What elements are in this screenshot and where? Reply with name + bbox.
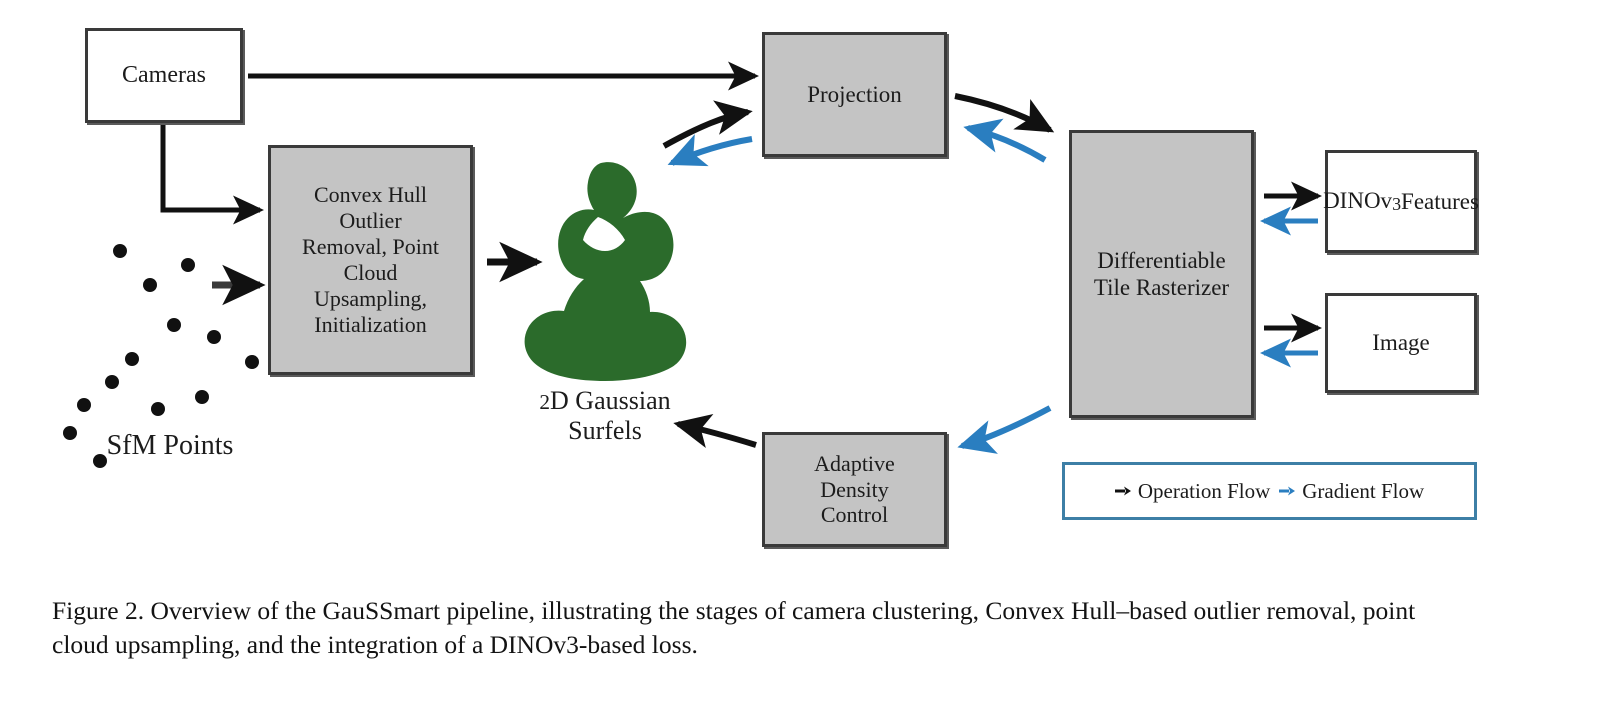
- node-cameras[interactable]: Cameras: [85, 28, 243, 123]
- node-adaptive-density-control[interactable]: Adaptive Density Control: [762, 432, 947, 547]
- sfm-points-label: SfM Points: [50, 430, 290, 462]
- node-adc-line-1: Adaptive: [814, 451, 895, 477]
- legend-label-gradient-flow: Gradient Flow: [1302, 479, 1424, 504]
- node-differentiable-tile-rasterizer[interactable]: Differentiable Tile Rasterizer: [1069, 130, 1254, 418]
- sfm-point: [105, 375, 119, 389]
- figure-caption: Figure 2. Overview of the GauSSmart pipe…: [52, 594, 1552, 662]
- gaussian-surfels-label: 2D Gaussian Surfels: [480, 386, 730, 446]
- node-cameras-label: Cameras: [122, 61, 206, 89]
- caption-line-1: Figure 2. Overview of the GauSSmart pipe…: [52, 594, 1552, 628]
- node-convex-hull-line-1: Convex Hull: [302, 182, 439, 208]
- node-dinov3-line-1: DINOv3: [1323, 187, 1401, 215]
- legend-entry-operation-flow: Operation Flow: [1115, 479, 1270, 504]
- sfm-point: [125, 352, 139, 366]
- node-projection[interactable]: Projection: [762, 32, 947, 157]
- node-rasterizer-line-1: Differentiable: [1094, 247, 1229, 274]
- flow-legend: Operation Flow Gradient Flow: [1062, 462, 1477, 520]
- surfels-dimension-number: 2: [539, 390, 550, 414]
- node-image[interactable]: Image: [1325, 293, 1477, 393]
- gaussian-surfels-bunny-icon: [505, 155, 695, 385]
- legend-label-operation-flow: Operation Flow: [1138, 479, 1270, 504]
- node-rasterizer-line-2: Tile Rasterizer: [1094, 274, 1229, 301]
- node-convex-hull-line-2: Outlier: [302, 208, 439, 234]
- bunny-svg: [505, 155, 695, 385]
- sfm-point: [77, 398, 91, 412]
- node-adc-label-group: Adaptive Density Control: [814, 451, 895, 529]
- sfm-point: [143, 278, 157, 292]
- sfm-point: [207, 330, 221, 344]
- node-convex-hull-line-5: Upsampling,: [302, 286, 439, 312]
- sfm-point: [167, 318, 181, 332]
- surfels-line-2: Surfels: [568, 416, 642, 445]
- node-dinov3-label-group: DINOv3: [1323, 187, 1401, 215]
- bunny-path: [525, 162, 687, 381]
- node-convex-hull-outlier-removal[interactable]: Convex Hull Outlier Removal, Point Cloud…: [268, 145, 473, 375]
- arrow-projection-to-rasterizer: [955, 96, 1050, 130]
- node-dinov3-prefix: DINOv: [1323, 188, 1392, 213]
- node-dinov3-features[interactable]: DINOv3 Features: [1325, 150, 1477, 253]
- sfm-point: [181, 258, 195, 272]
- node-adc-line-2: Density: [814, 477, 895, 503]
- node-rasterizer-label-group: Differentiable Tile Rasterizer: [1094, 247, 1229, 301]
- surfels-line-1: 2D Gaussian: [539, 386, 670, 415]
- gradient-flow-arrow-icon: [1279, 485, 1296, 497]
- surfels-line-1-rest: D Gaussian: [550, 386, 671, 415]
- legend-entry-gradient-flow: Gradient Flow: [1279, 479, 1424, 504]
- node-convex-hull-label-group: Convex Hull Outlier Removal, Point Cloud…: [302, 182, 439, 338]
- sfm-point: [245, 355, 259, 369]
- node-convex-hull-line-3: Removal, Point: [302, 234, 439, 260]
- sfm-point: [151, 402, 165, 416]
- caption-line-2: cloud upsampling, and the integration of…: [52, 628, 1552, 662]
- sfm-point: [113, 244, 127, 258]
- node-image-label: Image: [1372, 329, 1429, 356]
- gradient-rasterizer-to-adc: [962, 408, 1050, 446]
- arrow-cameras-to-convex-hull: [163, 124, 260, 210]
- operation-flow-arrow-icon: [1115, 485, 1132, 497]
- node-dinov3-line-2: Features: [1401, 188, 1479, 215]
- node-convex-hull-line-6: Initialization: [302, 312, 439, 338]
- gradient-rasterizer-to-projection: [968, 128, 1045, 160]
- node-convex-hull-line-4: Cloud: [302, 260, 439, 286]
- sfm-point: [195, 390, 209, 404]
- node-adc-line-3: Control: [814, 502, 895, 528]
- node-dinov3-version-number: 3: [1392, 194, 1401, 214]
- sfm-point-cloud: [55, 230, 235, 425]
- node-projection-label: Projection: [807, 81, 902, 108]
